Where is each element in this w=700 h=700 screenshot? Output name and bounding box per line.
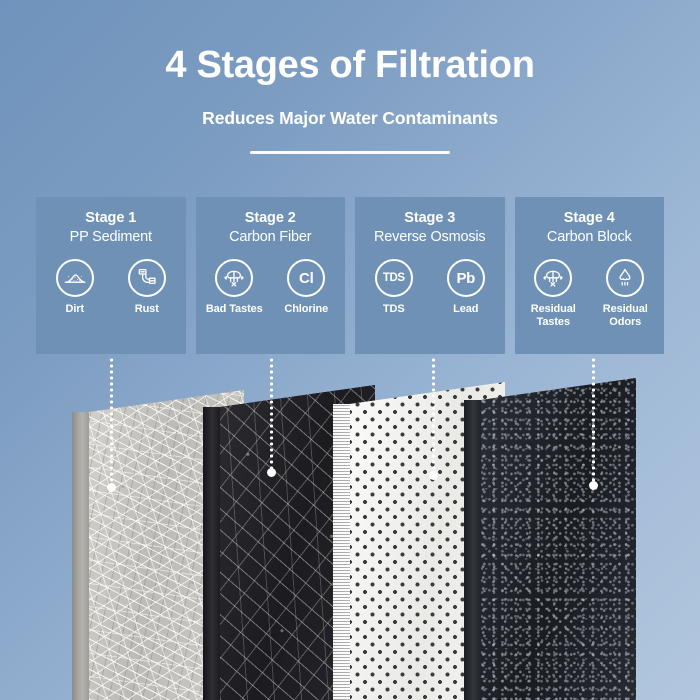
carbon-block-edge <box>464 378 481 700</box>
pp-sediment-edge <box>72 390 89 700</box>
connector-endpoint-stage-2 <box>267 468 276 477</box>
filter-media-group <box>0 0 700 700</box>
connector-endpoint-stage-4 <box>589 481 598 490</box>
connector-line-stage-2 <box>270 357 273 471</box>
connector-endpoint-stage-3 <box>429 471 438 480</box>
connector-endpoint-stage-1 <box>107 483 116 492</box>
reverse-osmosis-edge <box>333 382 350 700</box>
carbon-block-slab <box>464 378 636 700</box>
connector-line-stage-4 <box>592 357 595 484</box>
carbon-fiber-edge <box>203 385 220 700</box>
connector-line-stage-1 <box>110 357 113 486</box>
infographic-canvas: 4 Stages of Filtration Reduces Major Wat… <box>0 0 700 700</box>
carbon-block-face <box>481 378 636 700</box>
connector-line-stage-3 <box>432 357 435 474</box>
